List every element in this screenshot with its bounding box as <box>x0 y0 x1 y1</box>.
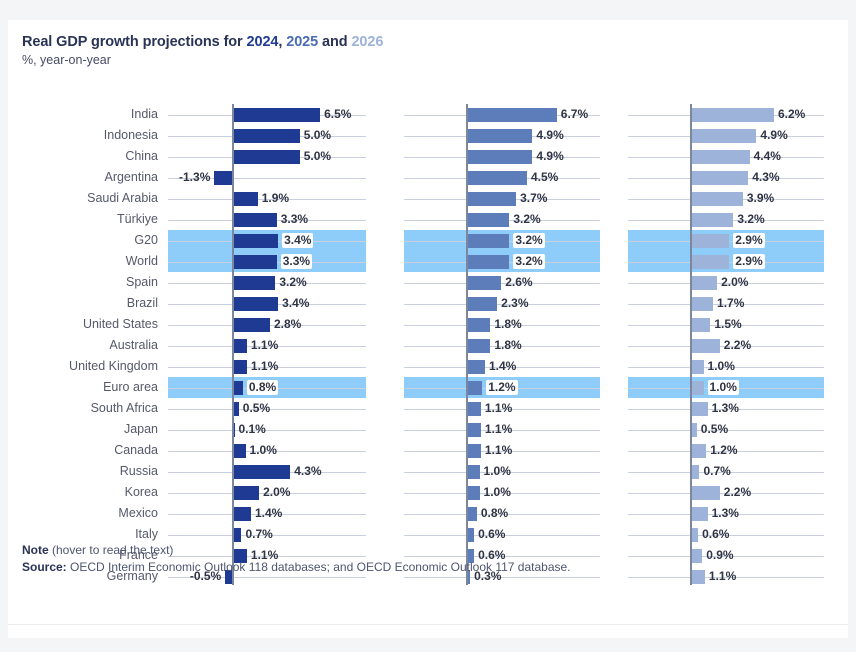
category-label: Korea <box>28 482 158 503</box>
bar-value-label: 2.9% <box>733 254 764 269</box>
bar[interactable] <box>690 507 708 521</box>
legend-year-2024: 2024 <box>247 34 279 50</box>
footer-source-label: Source: <box>22 560 67 574</box>
legend-year-2025: 2025 <box>286 34 318 50</box>
bar[interactable] <box>690 381 704 395</box>
footer-note-label: Note <box>22 543 49 557</box>
bar[interactable] <box>690 108 774 122</box>
bar[interactable] <box>690 129 756 143</box>
bar-value-label: 1.0% <box>250 440 277 461</box>
bar[interactable] <box>466 465 480 479</box>
category-label: Mexico <box>28 503 158 524</box>
gridline <box>404 283 600 284</box>
chart-title-lead: Real GDP growth projections for <box>22 34 247 50</box>
bar[interactable] <box>466 318 490 332</box>
category-label: India <box>28 104 158 125</box>
bar-value-label: 2.2% <box>724 482 751 503</box>
category-label: Indonesia <box>28 125 158 146</box>
footer-divider <box>8 624 848 625</box>
bar[interactable] <box>466 381 482 395</box>
footer-source-text: OECD Interim Economic Outlook 118 databa… <box>67 560 571 574</box>
bar[interactable] <box>232 318 270 332</box>
bar-value-label: 2.9% <box>733 233 764 248</box>
bar-value-label: 1.4% <box>489 356 516 377</box>
gridline <box>168 430 366 431</box>
bar[interactable] <box>690 318 710 332</box>
bar[interactable] <box>232 486 259 500</box>
bar-value-label: 6.5% <box>324 104 351 125</box>
bar-value-label: 5.0% <box>304 125 331 146</box>
bar-value-label: 1.2% <box>486 380 517 395</box>
bar-value-label: 6.2% <box>778 104 805 125</box>
footer-source-line: Source: OECD Interim Economic Outlook 11… <box>22 559 832 576</box>
bar-value-label: 3.4% <box>282 233 313 248</box>
bar[interactable] <box>690 213 733 227</box>
bar-value-label: 4.9% <box>536 146 563 167</box>
bar-value-label: 2.2% <box>724 335 751 356</box>
bar-value-label: 2.8% <box>274 314 301 335</box>
category-label: South Africa <box>28 398 158 419</box>
bar-value-label: 3.7% <box>520 188 547 209</box>
bar[interactable] <box>232 297 278 311</box>
bar-value-label: 4.9% <box>760 125 787 146</box>
bar-value-label: 4.9% <box>536 125 563 146</box>
bar[interactable] <box>466 192 516 206</box>
bar-value-label: 1.1% <box>485 419 512 440</box>
bar[interactable] <box>232 255 277 269</box>
bar[interactable] <box>466 297 497 311</box>
category-label: Brazil <box>28 293 158 314</box>
bar-value-label: 1.0% <box>708 356 735 377</box>
chart-plot-area: India6.5%6.7%6.2%Indonesia5.0%4.9%4.9%Ch… <box>8 88 848 600</box>
bar[interactable] <box>690 234 729 248</box>
zero-axis-line <box>466 104 468 585</box>
category-label: China <box>28 146 158 167</box>
bar-value-label: 4.5% <box>531 167 558 188</box>
bar[interactable] <box>466 423 481 437</box>
bar-value-label: 1.3% <box>712 398 739 419</box>
bar-value-label: 1.0% <box>484 461 511 482</box>
bar-value-label: 4.3% <box>294 461 321 482</box>
bar-value-label: 6.7% <box>561 104 588 125</box>
category-label: Türkiye <box>28 209 158 230</box>
bar[interactable] <box>690 150 750 164</box>
bar-value-label: 1.7% <box>717 293 744 314</box>
bar-value-label: 3.2% <box>513 254 544 269</box>
bar-value-label: 0.8% <box>481 503 508 524</box>
bar[interactable] <box>466 339 490 353</box>
zero-axis-line <box>232 104 234 585</box>
chart-card: Real GDP growth projections for 2024, 20… <box>8 20 848 638</box>
bar-value-label: 0.1% <box>239 419 266 440</box>
bar-value-label: 2.6% <box>505 272 532 293</box>
bar[interactable] <box>214 171 232 185</box>
bar[interactable] <box>232 150 300 164</box>
bar-value-label: 3.9% <box>747 188 774 209</box>
bar[interactable] <box>466 276 501 290</box>
bar-value-label: 0.5% <box>243 398 270 419</box>
bar[interactable] <box>466 507 477 521</box>
category-label: Canada <box>28 440 158 461</box>
bar-value-label: 0.8% <box>247 380 278 395</box>
bar-value-label: 5.0% <box>304 146 331 167</box>
chart-title-sep2: and <box>318 34 351 50</box>
bar[interactable] <box>466 402 481 416</box>
bar[interactable] <box>232 108 320 122</box>
bar-value-label: 2.3% <box>501 293 528 314</box>
chart-footer: Note (hover to read the text) Source: OE… <box>22 542 832 576</box>
category-label: Saudi Arabia <box>28 188 158 209</box>
bar-value-label: 1.3% <box>712 503 739 524</box>
bar-value-label: 2.0% <box>721 272 748 293</box>
category-label: Japan <box>28 419 158 440</box>
bar[interactable] <box>466 444 481 458</box>
bar-value-label: 3.3% <box>281 254 312 269</box>
gridline <box>404 577 600 578</box>
bar-value-label: 1.4% <box>255 503 282 524</box>
category-label: World <box>28 251 158 272</box>
bar-value-label: 3.3% <box>281 209 308 230</box>
legend-year-2026: 2026 <box>351 34 383 50</box>
bar-value-label: 1.8% <box>494 314 521 335</box>
chart-title: Real GDP growth projections for 2024, 20… <box>22 34 383 50</box>
bar-value-label: 1.1% <box>251 335 278 356</box>
bar[interactable] <box>690 297 713 311</box>
bar-value-label: 3.2% <box>279 272 306 293</box>
bar[interactable] <box>466 486 480 500</box>
bar-value-label: 2.0% <box>263 482 290 503</box>
bar-value-label: 1.2% <box>710 440 737 461</box>
bar[interactable] <box>232 129 300 143</box>
bar[interactable] <box>466 171 527 185</box>
bar[interactable] <box>466 108 557 122</box>
category-label: Argentina <box>28 167 158 188</box>
bar[interactable] <box>466 255 509 269</box>
category-label: Australia <box>28 335 158 356</box>
category-label: United Kingdom <box>28 356 158 377</box>
bar-value-label: 0.5% <box>701 419 728 440</box>
bar[interactable] <box>232 381 243 395</box>
footer-note-text[interactable]: (hover to read the text) <box>49 543 174 557</box>
bar[interactable] <box>466 360 485 374</box>
bar[interactable] <box>690 360 704 374</box>
bar[interactable] <box>232 507 251 521</box>
bar-value-label: 3.2% <box>737 209 764 230</box>
category-label: G20 <box>28 230 158 251</box>
chart-subtitle: %, year-on-year <box>22 53 111 67</box>
bar-value-label: 3.4% <box>282 293 309 314</box>
zero-axis-line <box>690 104 692 585</box>
category-label: United States <box>28 314 158 335</box>
bar-value-label: 1.1% <box>485 440 512 461</box>
bar[interactable] <box>232 360 247 374</box>
bar[interactable] <box>690 402 708 416</box>
bar-value-label: 0.7% <box>703 461 730 482</box>
bar[interactable] <box>232 234 278 248</box>
bar[interactable] <box>690 255 729 269</box>
bar[interactable] <box>232 213 277 227</box>
footer-note-line: Note (hover to read the text) <box>22 542 832 559</box>
bar[interactable] <box>232 192 258 206</box>
bar-value-label: 1.0% <box>484 482 511 503</box>
bar-value-label: 1.1% <box>251 356 278 377</box>
bar[interactable] <box>690 276 717 290</box>
bar[interactable] <box>232 276 275 290</box>
bar-value-label: 3.2% <box>513 233 544 248</box>
bar-value-label: 4.4% <box>754 146 781 167</box>
bar-value-label: 1.1% <box>485 398 512 419</box>
bar[interactable] <box>232 339 247 353</box>
bar[interactable] <box>690 192 743 206</box>
bar-value-label: 4.3% <box>752 167 779 188</box>
category-label: Euro area <box>28 377 158 398</box>
bar[interactable] <box>690 171 748 185</box>
bar[interactable] <box>690 339 720 353</box>
bar-value-label: 1.0% <box>708 380 739 395</box>
bar-value-label: 1.8% <box>494 335 521 356</box>
bar-value-label: 1.9% <box>262 188 289 209</box>
bar-value-label: 3.2% <box>513 209 540 230</box>
bar[interactable] <box>232 465 290 479</box>
bar-value-label: -1.3% <box>179 167 210 188</box>
category-label: Spain <box>28 272 158 293</box>
bar[interactable] <box>690 444 706 458</box>
bar[interactable] <box>466 213 509 227</box>
category-label: Russia <box>28 461 158 482</box>
bar[interactable] <box>232 444 246 458</box>
bar[interactable] <box>466 129 532 143</box>
bar[interactable] <box>690 486 720 500</box>
bar[interactable] <box>466 234 509 248</box>
bar-value-label: 1.5% <box>714 314 741 335</box>
bar[interactable] <box>466 150 532 164</box>
